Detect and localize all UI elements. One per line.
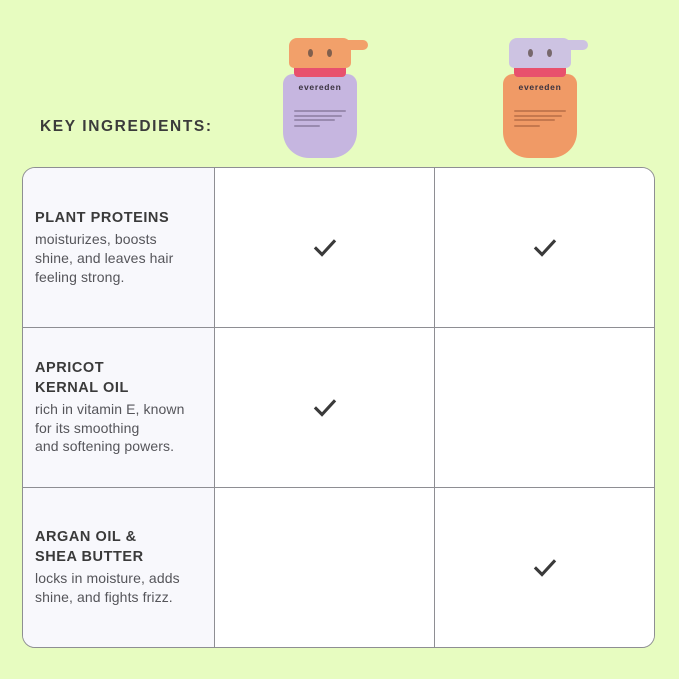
eye-right-icon [327, 49, 332, 57]
table-row: ARGAN OIL & SHEA BUTTER locks in moistur… [23, 488, 654, 647]
ingredient-cell: PLANT PROTEINS moisturizes, boosts shine… [23, 168, 215, 327]
ingredient-description: rich in vitamin E, known for its smoothi… [35, 400, 200, 456]
check-cell-product-1[interactable] [215, 328, 435, 487]
table-row: APRICOT KERNAL OIL rich in vitamin E, kn… [23, 328, 654, 488]
check-icon [532, 235, 558, 261]
face-eyes-icon [289, 42, 351, 64]
bottle-label-text-1 [294, 110, 346, 130]
table-row: PLANT PROTEINS moisturizes, boosts shine… [23, 168, 654, 328]
eye-right-icon [547, 49, 552, 57]
eye-left-icon [528, 49, 533, 57]
check-cell-product-1[interactable] [215, 488, 435, 647]
page-title: KEY INGREDIENTS: [40, 118, 213, 136]
bottle-label-text-2 [514, 110, 566, 130]
eye-left-icon [308, 49, 313, 57]
check-icon [312, 235, 338, 261]
ingredient-name: APRICOT KERNAL OIL [35, 359, 200, 398]
ingredient-description: locks in moisture, adds shine, and fight… [35, 569, 200, 606]
product-bottle-2[interactable]: evereden [492, 18, 588, 158]
brand-label-2: evereden [503, 82, 577, 92]
check-cell-product-2[interactable] [435, 328, 654, 487]
product-bottle-1[interactable]: evereden [272, 18, 368, 158]
ingredients-comparison-table: PLANT PROTEINS moisturizes, boosts shine… [22, 167, 655, 648]
ingredient-name: PLANT PROTEINS [35, 209, 200, 229]
brand-label-1: evereden [283, 82, 357, 92]
face-eyes-icon [509, 42, 571, 64]
check-cell-product-1[interactable] [215, 168, 435, 327]
check-icon [532, 555, 558, 581]
ingredient-cell: ARGAN OIL & SHEA BUTTER locks in moistur… [23, 488, 215, 647]
check-cell-product-2[interactable] [435, 488, 654, 647]
product-images: evereden evereden [0, 0, 679, 160]
ingredient-description: moisturizes, boosts shine, and leaves ha… [35, 230, 200, 286]
ingredient-name: ARGAN OIL & SHEA BUTTER [35, 528, 200, 567]
check-cell-product-2[interactable] [435, 168, 654, 327]
check-icon [312, 395, 338, 421]
ingredient-cell: APRICOT KERNAL OIL rich in vitamin E, kn… [23, 328, 215, 487]
